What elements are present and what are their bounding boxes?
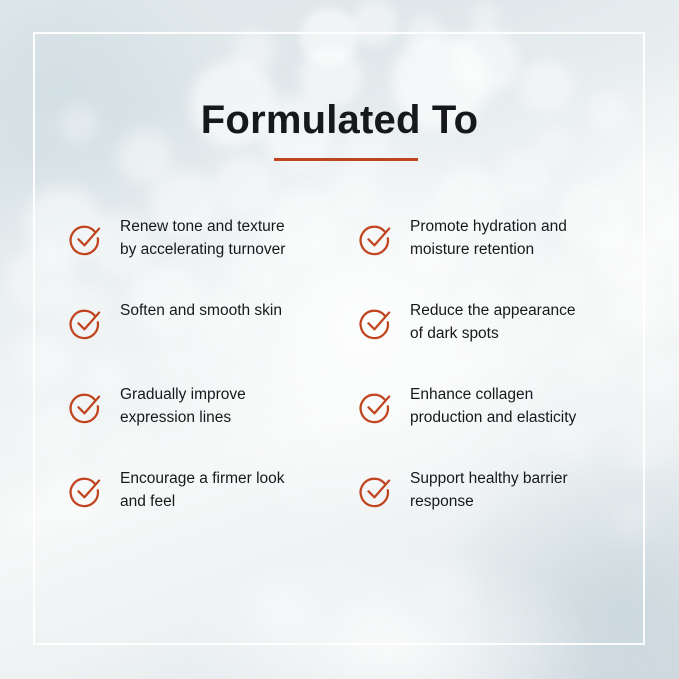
benefit-item-label: Promote hydration and moisture retention bbox=[410, 216, 642, 261]
infographic-panel: Formulated To Renew tone and texture by … bbox=[0, 0, 679, 679]
benefit-item-soften-and-smooth-skin: Soften and smooth skin bbox=[66, 302, 356, 386]
check-circle-icon bbox=[358, 305, 394, 341]
page-title: Formulated To bbox=[0, 100, 679, 140]
benefit-item-reduce-the-appearance-of-dark-spots: Reduce the appearance of dark spots bbox=[356, 302, 646, 386]
benefit-item-enhance-collagen-production-and-elasticity: Enhance collagen production and elastici… bbox=[356, 386, 646, 470]
benefit-item-label: Encourage a firmer look and feel bbox=[120, 468, 352, 513]
title-underline-rule bbox=[274, 158, 418, 161]
check-circle-icon bbox=[68, 473, 104, 509]
benefit-item-promote-hydration-and-moisture-retention: Promote hydration and moisture retention bbox=[356, 218, 646, 302]
benefit-item-support-healthy-barrier-response: Support healthy barrier response bbox=[356, 470, 646, 554]
benefit-item-gradually-improve-expression-lines: Gradually improve expression lines bbox=[66, 386, 356, 470]
check-circle-icon bbox=[358, 389, 394, 425]
check-circle-icon bbox=[68, 221, 104, 257]
benefit-item-encourage-a-firmer-look-and-feel: Encourage a firmer look and feel bbox=[66, 470, 356, 554]
benefit-item-renew-tone-and-texture: Renew tone and texture by accelerating t… bbox=[66, 218, 356, 302]
benefit-item-label: Reduce the appearance of dark spots bbox=[410, 300, 642, 345]
check-circle-icon bbox=[68, 305, 104, 341]
benefit-item-label: Renew tone and texture by accelerating t… bbox=[120, 216, 352, 261]
check-circle-icon bbox=[358, 221, 394, 257]
check-circle-icon bbox=[68, 389, 104, 425]
benefits-column-left: Renew tone and texture by accelerating t… bbox=[66, 218, 356, 554]
benefit-item-label: Support healthy barrier response bbox=[410, 468, 642, 513]
benefits-column-right: Promote hydration and moisture retention… bbox=[356, 218, 646, 554]
benefit-item-label: Enhance collagen production and elastici… bbox=[410, 384, 642, 429]
benefit-item-label: Soften and smooth skin bbox=[120, 300, 352, 323]
check-circle-icon bbox=[358, 473, 394, 509]
benefit-item-label: Gradually improve expression lines bbox=[120, 384, 352, 429]
